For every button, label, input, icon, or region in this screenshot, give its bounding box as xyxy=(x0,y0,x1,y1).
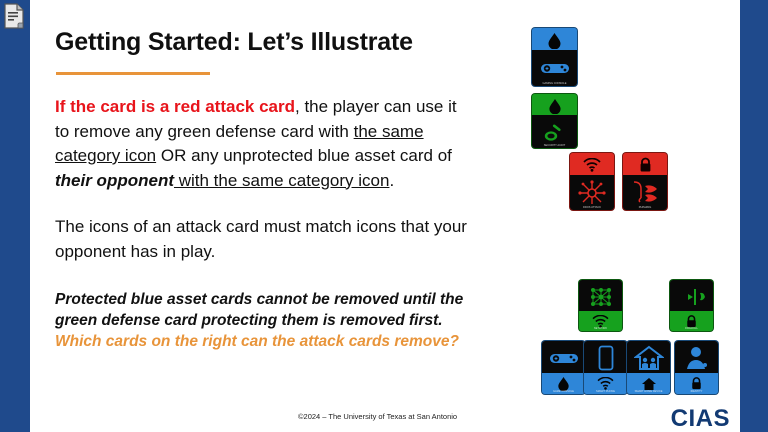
card-caption: SMART PHONE xyxy=(584,388,627,394)
smart-house-icon xyxy=(634,345,664,371)
card-caption: SECURITY AUDIT xyxy=(532,142,577,148)
ddos-icon xyxy=(577,180,607,206)
card-category-band xyxy=(570,153,614,177)
document-icon xyxy=(3,3,25,29)
smartphone-icon xyxy=(598,345,614,371)
card-caption: SMART HOME DEVICE xyxy=(627,388,670,394)
card-category-band xyxy=(532,94,577,117)
game-controller-icon xyxy=(540,61,570,76)
left-decor-bar xyxy=(0,0,30,432)
right-decor-bar xyxy=(740,0,768,432)
body-text-block: If the card is a red attack card, the pl… xyxy=(55,95,475,352)
paragraph-protected-note: Protected blue asset cards cannot be rem… xyxy=(55,289,475,352)
card-green-defense-firewall[interactable]: FIREWALL xyxy=(669,279,714,332)
attack-rule-underline-2: with the same category icon xyxy=(174,171,389,190)
protected-note-text: Protected blue asset cards cannot be rem… xyxy=(55,291,463,329)
card-caption: DDOS ATTACK xyxy=(570,204,614,210)
shield-icon xyxy=(548,98,562,114)
card-blue-asset-smart-home[interactable]: SMART HOME DEVICE xyxy=(626,340,671,395)
title-underline-rule xyxy=(56,72,210,75)
paragraph-attack-rule: If the card is a red attack card, the pl… xyxy=(55,95,475,193)
lock-icon xyxy=(638,157,653,173)
card-green-defense-network[interactable]: NETWORK xyxy=(578,279,623,332)
card-blue-asset-console[interactable]: GAME CONSOLE xyxy=(541,340,586,395)
card-art xyxy=(579,280,622,313)
slide-canvas: Getting Started: Let’s Illustrate If the… xyxy=(0,0,768,432)
magnifier-icon xyxy=(542,121,568,143)
card-art xyxy=(542,341,585,375)
card-blue-asset-smartphone[interactable]: SMART PHONE xyxy=(583,340,628,395)
shield-icon xyxy=(547,32,562,49)
card-category-band xyxy=(623,153,667,177)
card-art xyxy=(670,280,713,313)
card-art xyxy=(627,341,670,375)
card-caption: GAMING CONSOLE xyxy=(532,80,577,86)
attack-rule-text-3: . xyxy=(389,171,394,190)
card-blue-asset-gaming[interactable]: GAMING CONSOLE xyxy=(531,27,578,87)
wifi-icon xyxy=(582,158,602,172)
card-category-band xyxy=(532,28,577,52)
copyright-footer: ©2024 – The University of Texas at San A… xyxy=(298,412,457,421)
card-caption: IDENTITY xyxy=(675,388,718,394)
card-red-attack-ddos[interactable]: DDOS ATTACK xyxy=(569,152,615,211)
card-green-defense-shield[interactable]: SECURITY AUDIT xyxy=(531,93,578,149)
network-mesh-icon xyxy=(587,284,615,310)
card-blue-asset-identity[interactable]: IDENTITY xyxy=(674,340,719,395)
prompt-question: Which cards on the right can the attack … xyxy=(55,333,459,350)
page-title: Getting Started: Let’s Illustrate xyxy=(55,28,413,57)
card-caption: FIREWALL xyxy=(670,325,713,331)
attack-rule-emphasis: their opponent xyxy=(55,171,174,190)
person-identity-icon xyxy=(684,345,710,371)
card-art xyxy=(675,341,718,375)
card-caption: NETWORK xyxy=(579,325,622,331)
firewall-icon xyxy=(676,287,708,307)
card-caption: PHISHING xyxy=(623,204,667,210)
phishing-fish-icon xyxy=(629,180,661,206)
attack-rule-text-2: OR any unprotected blue asset card of xyxy=(156,146,452,165)
card-art xyxy=(584,341,627,375)
card-red-attack-phishing[interactable]: PHISHING xyxy=(622,152,668,211)
paragraph-icon-match: The icons of an attack card must match i… xyxy=(55,215,475,264)
game-controller-icon xyxy=(549,351,579,366)
attack-rule-lead: If the card is a red attack card xyxy=(55,97,295,116)
cias-logo: CIAS xyxy=(671,405,730,432)
card-caption: GAME CONSOLE xyxy=(542,388,585,394)
